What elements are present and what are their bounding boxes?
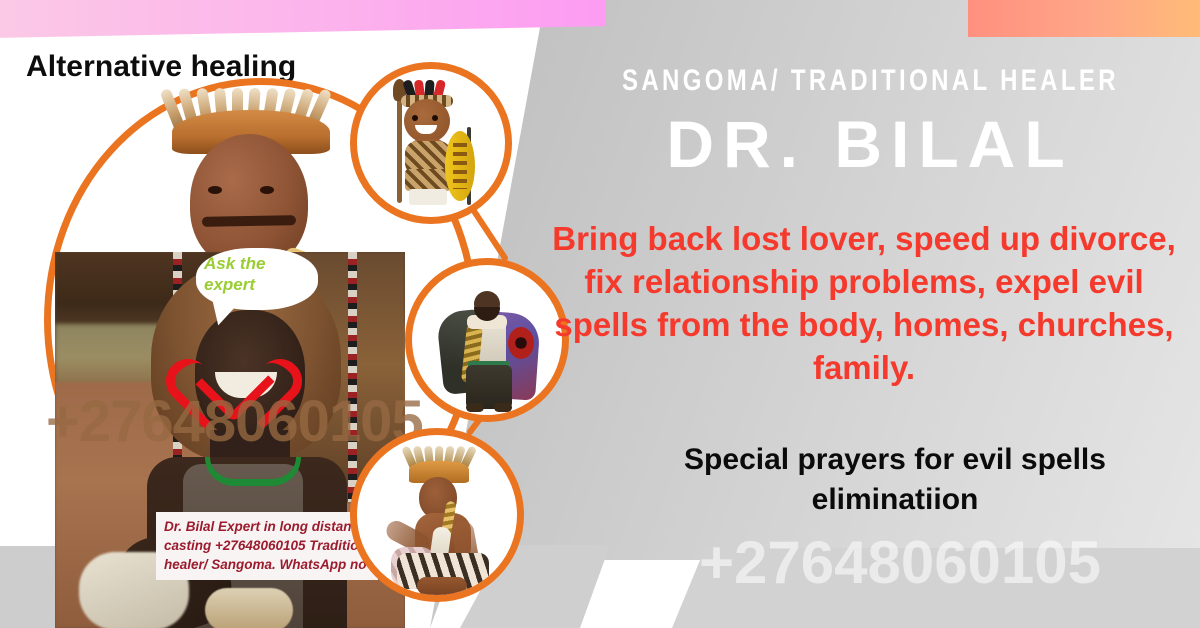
- special-prayers-text: Special prayers for evil spells eliminat…: [600, 440, 1190, 519]
- warrior-head: [404, 99, 450, 143]
- services-text: Bring back lost lover, speed up divorce,…: [540, 218, 1188, 390]
- dancer-leg: [417, 577, 467, 595]
- panel-watermark-phone: +27648060105: [600, 528, 1200, 597]
- shield-pattern: [453, 143, 467, 189]
- robe-feet: [466, 403, 512, 413]
- figure-brow: [202, 215, 296, 227]
- warrior-skirt: [405, 169, 451, 191]
- top-orange-strip: [968, 0, 1200, 37]
- caption-line-3: healer/ Sangoma. WhatsApp no: [164, 555, 372, 574]
- healer-name: DR. BILAL: [560, 106, 1180, 182]
- caption-line-1: Dr. Bilal Expert in long distance: [164, 517, 372, 536]
- warrior-legs: [409, 189, 447, 205]
- photo-green-necklace: [205, 457, 301, 486]
- top-pink-strip: [0, 0, 606, 38]
- poster-canvas: Alternative healing: [0, 0, 1200, 628]
- kicker-text: SANGOMA/ TRADITIONAL HEALER: [622, 64, 1118, 98]
- photo-caption: Dr. Bilal Expert in long distance castin…: [156, 512, 378, 580]
- robe-red-disc: [508, 327, 534, 359]
- speech-bubble-text: Ask the expert: [204, 253, 316, 296]
- photo-bowl: [205, 588, 293, 628]
- photo-bead-strand-right: [348, 252, 357, 502]
- badge-zulu-warrior: [350, 62, 512, 224]
- badge-crouching-dancer: [350, 428, 524, 602]
- caption-line-2: casting +27648060105 Traditional: [164, 536, 372, 555]
- bottom-left-grey-corner: [0, 546, 58, 628]
- speech-bubble-tail: [208, 298, 239, 328]
- warrior-eyes: [412, 115, 418, 121]
